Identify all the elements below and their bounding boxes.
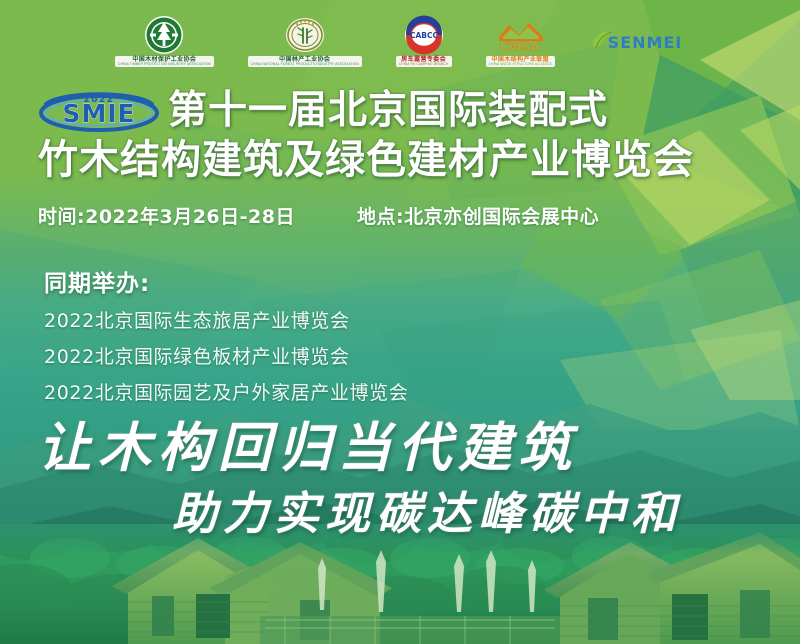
senmei-logo[interactable]: SENMEI [589, 26, 685, 56]
china-timber-logo[interactable]: 中国木材保护工业协会 CHINA TIMBER PROTECTION INDUS… [115, 15, 214, 68]
event-date: 时间:2022年3月26日-28日 [38, 202, 295, 229]
event-venue: 地点:北京亦创国际会展中心 [357, 202, 599, 229]
cwsa-logo-label: 中国木结构产业联盟 CHINA WOOD STRUCTURE ALLIANCE [486, 56, 555, 68]
house-roof-icon: CWSA [493, 15, 547, 55]
cabcc-logo[interactable]: CABCC 房车露营专委会 CHINA RV CAMPING BRANCH [396, 15, 452, 68]
cabcc-shield-icon: CABCC [404, 15, 444, 55]
exhibition-poster: 中国木材保护工业协会 CHINA TIMBER PROTECTION INDUS… [0, 0, 800, 644]
title-line-1: 第十一届北京国际装配式 [168, 88, 608, 134]
smie-year: 2022 [83, 95, 114, 105]
cwsa-logo[interactable]: CWSA 中国木结构产业联盟 CHINA WOOD STRUCTURE ALLI… [486, 15, 555, 68]
smie-logo-badge: SMIE 2022 [38, 89, 160, 133]
concurrent-heading: 同期举办: [44, 264, 408, 298]
concurrent-item: 2022北京国际园艺及户外家居产业博览会 [44, 384, 408, 403]
china-timber-logo-label: 中国木材保护工业协会 CHINA TIMBER PROTECTION INDUS… [115, 56, 214, 68]
cabcc-logo-label: 房车露营专委会 CHINA RV CAMPING BRANCH [396, 56, 452, 68]
concurrent-item: 2022北京国际生态旅居产业博览会 [44, 312, 408, 331]
slogan-line-2: 助力实现碳达峰碳中和 [172, 487, 682, 541]
cabins-forest-photo [0, 524, 800, 644]
bamboo-association-logo-label: 中国林产工业协会 CHINA NATIONAL FOREST PRODUCTS … [248, 56, 362, 68]
bamboo-association-logo[interactable]: 中国林产工业协会 CHINA NATIONAL FOREST PRODUCTS … [248, 15, 362, 68]
association-logo-row: 中国木材保护工业协会 CHINA TIMBER PROTECTION INDUS… [0, 10, 800, 72]
leaf-icon: SENMEI [589, 26, 685, 56]
cabcc-acronym: CABCC [410, 31, 439, 40]
pine-tree-emblem-icon [144, 15, 184, 55]
cwsa-acronym: CWSA [500, 40, 541, 54]
concurrent-item: 2022北京国际绿色板材产业博览会 [44, 348, 408, 367]
slogan-line-1: 让木构回归当代建筑 [38, 418, 578, 478]
bamboo-emblem-icon [285, 15, 325, 55]
event-meta-row: 时间:2022年3月26日-28日 地点:北京亦创国际会展中心 [38, 202, 738, 229]
title-line-1-row: SMIE 2022 第十一届北京国际装配式 [38, 88, 778, 134]
concurrent-events-block: 同期举办: 2022北京国际生态旅居产业博览会 2022北京国际绿色板材产业博览… [44, 264, 408, 420]
poster-title-block: SMIE 2022 第十一届北京国际装配式 竹木结构建筑及绿色建材产业博览会 [38, 88, 778, 184]
senmei-acronym: SENMEI [608, 33, 683, 52]
title-line-2: 竹木结构建筑及绿色建材产业博览会 [38, 136, 778, 184]
